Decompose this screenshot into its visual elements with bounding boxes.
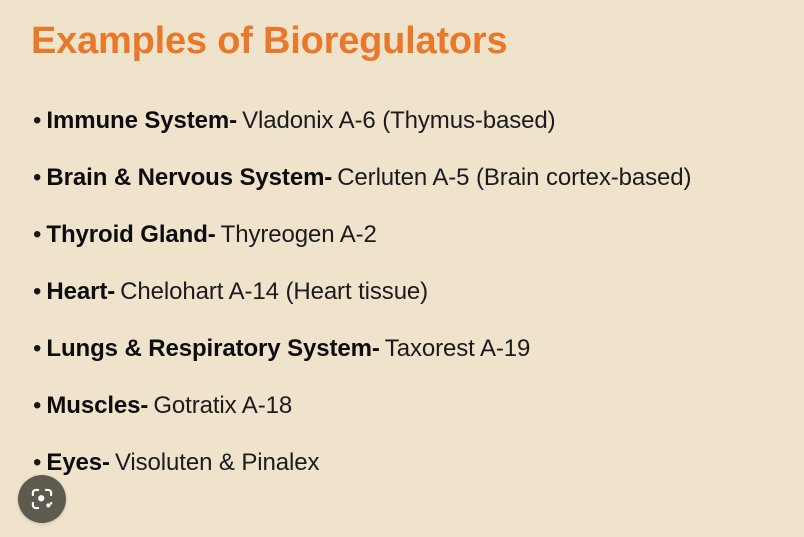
bullet-icon: • bbox=[33, 391, 41, 421]
list-item-value: Vladonix A-6 (Thymus-based) bbox=[242, 106, 555, 136]
list-item-label: Brain & Nervous System- bbox=[46, 163, 332, 193]
page-title: Examples of Bioregulators bbox=[31, 18, 507, 64]
page-root: Examples of Bioregulators • Immune Syste… bbox=[0, 0, 804, 537]
list-item: • Brain & Nervous System- Cerluten A-5 (… bbox=[33, 163, 796, 220]
list-item-label: Lungs & Respiratory System- bbox=[46, 334, 379, 364]
list-item-value: Taxorest A-19 bbox=[385, 334, 530, 364]
bullet-icon: • bbox=[33, 334, 41, 364]
list-item-label: Heart- bbox=[46, 277, 115, 307]
bullet-icon: • bbox=[33, 163, 41, 193]
list-item-label: Muscles- bbox=[46, 391, 148, 421]
list-item-label: Immune System- bbox=[46, 106, 237, 136]
list-item: • Eyes- Visoluten & Pinalex bbox=[33, 448, 796, 505]
list-item: • Immune System- Vladonix A-6 (Thymus-ba… bbox=[33, 106, 796, 163]
google-lens-icon bbox=[29, 486, 55, 512]
list-item: • Thyroid Gland- Thyreogen A-2 bbox=[33, 220, 796, 277]
bioregulators-list: • Immune System- Vladonix A-6 (Thymus-ba… bbox=[33, 106, 796, 505]
list-item: • Heart- Chelohart A-14 (Heart tissue) bbox=[33, 277, 796, 334]
list-item-value: Visoluten & Pinalex bbox=[115, 448, 319, 478]
list-item-value: Thyreogen A-2 bbox=[221, 220, 377, 250]
list-item: • Muscles- Gotratix A-18 bbox=[33, 391, 796, 448]
bullet-icon: • bbox=[33, 220, 41, 250]
list-item-value: Gotratix A-18 bbox=[153, 391, 292, 421]
google-lens-button[interactable] bbox=[18, 475, 66, 523]
bullet-icon: • bbox=[33, 448, 41, 478]
list-item-label: Eyes- bbox=[46, 448, 110, 478]
list-item: • Lungs & Respiratory System- Taxorest A… bbox=[33, 334, 796, 391]
list-item-value: Chelohart A-14 (Heart tissue) bbox=[120, 277, 428, 307]
bullet-icon: • bbox=[33, 277, 41, 307]
list-item-value: Cerluten A-5 (Brain cortex-based) bbox=[337, 163, 691, 193]
list-item-label: Thyroid Gland- bbox=[46, 220, 215, 250]
bullet-icon: • bbox=[33, 106, 41, 136]
